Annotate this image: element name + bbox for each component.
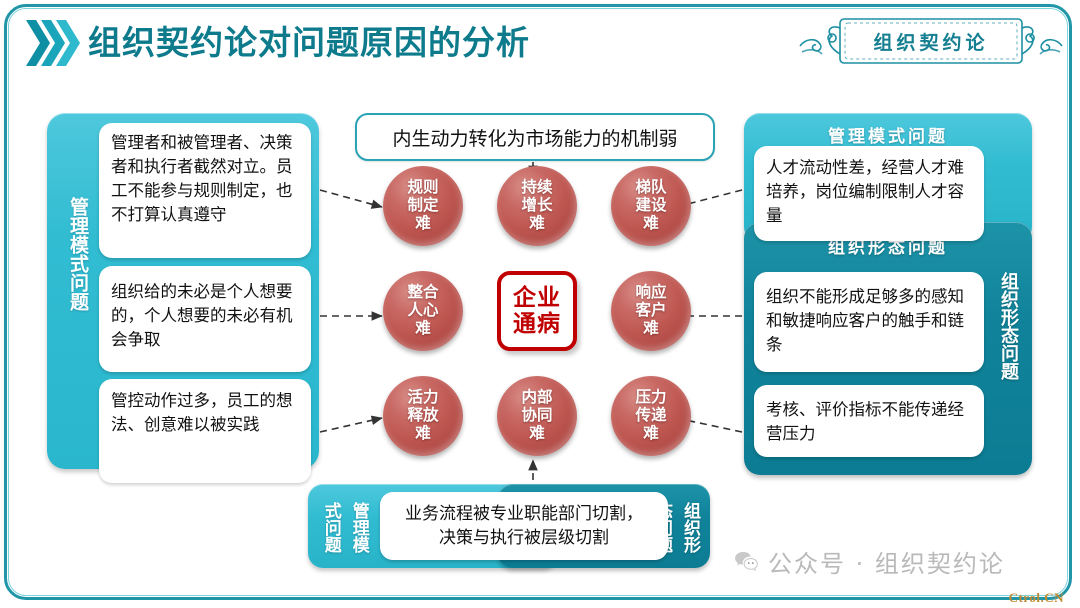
core-label-enterprise-common-illness: 企业 通病 [497,271,577,351]
right-top-panel-header: 管理模式问题 [744,122,1032,147]
connector-left-1 [320,190,382,207]
circle-align-hearts: 整合人心难 [383,271,463,351]
common-problems-grid: 规则制定难 持续增长难 梯队建设难 整合人心难 响应客户难 活力释放难 内部协同… [383,166,691,456]
slide-canvas: 组织契约论对问题原因的分析 组织契约论 管理模式问题 [0,0,1080,608]
bottom-left-vertical-label-col2: 式问题 [320,496,341,558]
triple-chevron-right-icon [24,18,80,68]
circle-vitality-release: 活力释放难 [383,376,463,456]
wechat-icon [733,549,759,575]
bottom-center-callout: 业务流程被专业职能部门切割， 决策与执行被层级切割 [380,492,668,560]
circle-internal-collaboration: 内部协同难 [497,376,577,456]
bottom-right-vertical-label-col1: 组织形 [679,496,700,558]
right-panel-box-1: 人才流动性差，经营人才难培养，岗位编制限制人才容量 [754,146,984,241]
right-panel-box-2: 组织不能形成足够多的感知和敏捷响应客户的触手和链条 [754,272,984,372]
left-panel-management-mode: 管理模式问题 管理者和被管理者、决策者和执行者截然对立。员工不能参与规则制定，也… [47,113,319,469]
circle-sustained-growth: 持续增长难 [497,166,577,246]
page-title: 组织契约论对问题原因的分析 [88,16,530,64]
bottom-left-vertical-label-col1: 管理模 [348,496,369,558]
circle-customer-response: 响应客户难 [611,271,691,351]
left-panel-box-3: 管控动作过多，员工的想法、创意难以被实践 [99,379,311,483]
right-panel-box-3: 考核、评价指标不能传递经营压力 [754,385,984,457]
circle-talent-pipeline: 梯队建设难 [611,166,691,246]
circle-rule-making: 规则制定难 [383,166,463,246]
top-center-callout: 内生动力转化为市场能力的机制弱 [355,113,715,161]
right-bottom-panel-org-form: 组织形态问题 组织形态问题 组织不能形成足够多的感知和敏捷响应客户的触手和链条 … [744,222,1032,475]
badge-label: 组织契约论 [796,12,1066,70]
right-bottom-panel-vertical-label: 组织形态问题 [990,272,1020,380]
connector-left-3 [320,418,382,432]
bottom-callout-line2: 决策与执行被层级切割 [405,526,643,550]
watermark: 公众号 · 组织契约论 [733,544,1005,579]
corner-mark: Ctrol.CN [1009,590,1064,606]
core-label-line2: 通病 [513,311,561,337]
left-panel-vertical-label: 管理模式问题 [55,197,89,311]
left-panel-box-2: 组织给的未必是个人想要的，个人想要的未必有机会争取 [99,266,311,372]
left-panel-box-1: 管理者和被管理者、决策者和执行者截然对立。员工不能参与规则制定，也不打算认真遵守 [99,123,311,258]
circle-pressure-transmission: 压力传递难 [611,376,691,456]
bottom-callout-line1: 业务流程被专业职能部门切割， [405,502,643,526]
brand-badge: 组织契约论 [796,12,1066,70]
slide-header: 组织契约论对问题原因的分析 组织契约论 [0,0,1080,86]
watermark-text: 公众号 · 组织契约论 [768,544,1005,579]
core-label-line1: 企业 [513,285,561,311]
